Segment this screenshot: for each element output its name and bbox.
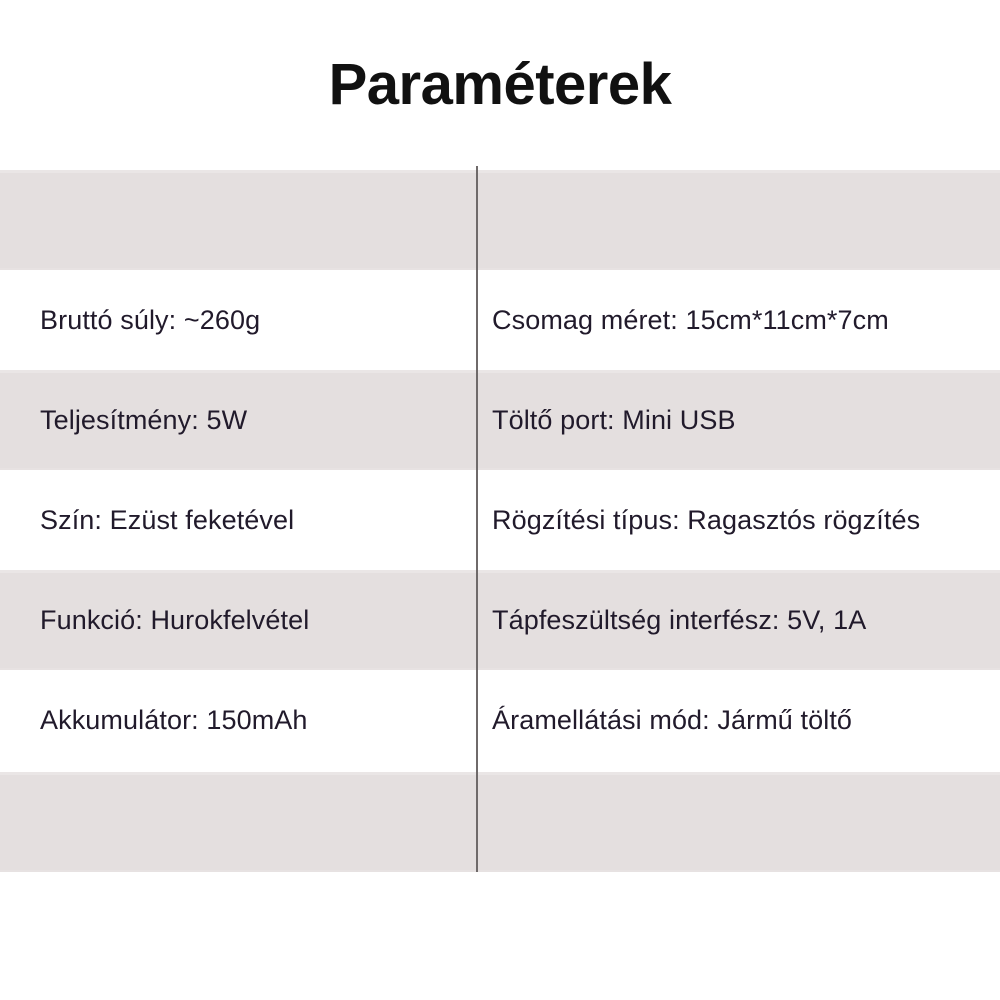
parameters-spec-sheet: Paraméterek Bruttó súly: ~260g Csomag mé… [0,0,1000,1000]
table-row: Bruttó súly: ~260g Csomag méret: 15cm*11… [0,270,1000,370]
table-row: Akkumulátor: 150mAh Áramellátási mód: Já… [0,670,1000,770]
page-title: Paraméterek [0,56,1000,114]
spec-cell-left: Teljesítmény: 5W [40,370,460,470]
spec-cell-right: Áramellátási mód: Jármű töltő [492,670,992,770]
spec-cell-left: Akkumulátor: 150mAh [40,670,460,770]
spec-table: Bruttó súly: ~260g Csomag méret: 15cm*11… [0,270,1000,770]
spec-cell-right: Tápfeszültség interfész: 5V, 1A [492,570,992,670]
spec-cell-right: Csomag méret: 15cm*11cm*7cm [492,270,992,370]
spec-cell-left: Bruttó súly: ~260g [40,270,460,370]
table-row: Szín: Ezüst feketével Rögzítési típus: R… [0,470,1000,570]
spec-cell-right: Töltő port: Mini USB [492,370,992,470]
spec-cell-left: Szín: Ezüst feketével [40,470,460,570]
table-band-1 [0,170,1000,270]
table-row: Teljesítmény: 5W Töltő port: Mini USB [0,370,1000,470]
spec-cell-left: Funkció: Hurokfelvétel [40,570,460,670]
table-band-4 [0,772,1000,872]
table-row: Funkció: Hurokfelvétel Tápfeszültség int… [0,570,1000,670]
spec-cell-right: Rögzítési típus: Ragasztós rögzítés [492,470,992,570]
